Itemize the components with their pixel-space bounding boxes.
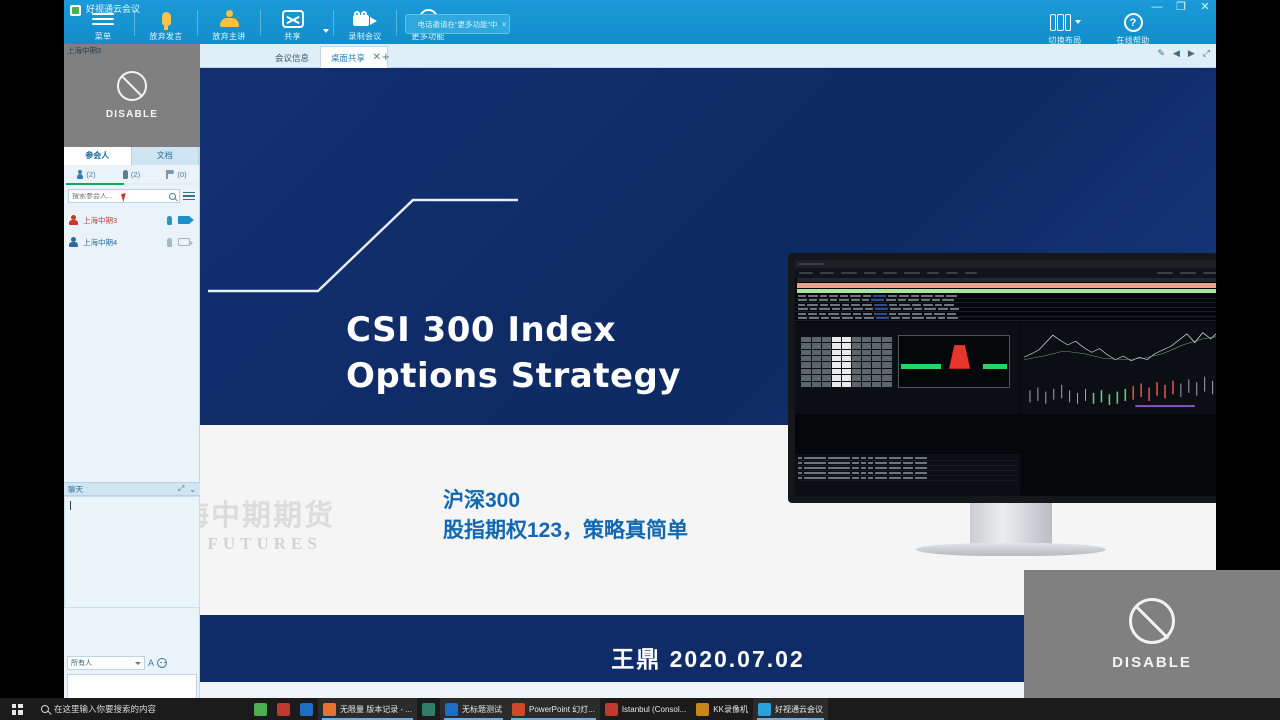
monitor-illustration [788,253,1216,553]
camera-icon [353,11,377,26]
participant-search-row [64,185,199,207]
list-item[interactable]: 上海中期3 [64,209,199,231]
online-help-button[interactable]: ? 在线帮助 [1106,12,1160,46]
search-icon [41,705,49,713]
switch-layout-button[interactable]: 切换布局 [1038,12,1092,46]
wechat-icon [254,703,267,716]
chat-input[interactable] [67,674,197,698]
participant-name: 上海中期3 [83,215,162,226]
content-tabstrip: 会议信息 桌面共享 ✕ + ✎ ◀ ▶ ⤢ [200,44,1216,68]
search-icon[interactable] [169,193,176,200]
terminal-quote-header [797,278,1216,282]
list-item[interactable]: 上海中期4 [64,231,199,253]
no-entry-icon [1129,598,1175,644]
taskbar-search[interactable]: 在这里输入你要搜索的内容 [34,698,249,720]
start-button[interactable] [0,698,34,720]
no-entry-icon [117,71,147,101]
hamburger-icon [92,10,114,28]
tab-close-icon[interactable]: ✕ [373,47,381,69]
font-style-icon[interactable]: A [148,658,154,668]
payoff-profit-zone [943,345,976,369]
invite-notice-banner[interactable]: 电话邀请在“更多功能”中 ✕ [405,14,510,34]
counter-raised-hands[interactable]: (0) [154,170,199,179]
taskbar-item-istanbul[interactable]: Istanbul (Consol... [600,698,691,720]
taskbar-item-label: PowerPoint 幻灯... [529,704,595,715]
terminal-put-band [797,289,1216,293]
taskbar-item-excel[interactable] [417,698,440,720]
terminal-orders-table [795,454,1020,496]
close-button[interactable]: ✕ [1198,1,1212,14]
chevron-down-icon[interactable]: ⌄ [189,485,196,494]
powerpoint-icon [512,703,525,716]
toolbar-divider [396,10,397,36]
monitor-bezel [788,253,1216,503]
taskbar-item-kk-recorder[interactable]: KK录像机 [691,698,753,720]
tab-desktop-share-label: 桌面共享 [331,53,365,63]
emoji-icon[interactable] [157,658,167,668]
fsmeeting-icon [758,703,771,716]
taskbar-item-label: Istanbul (Consol... [622,705,686,714]
chrome-window-icon [323,703,336,716]
counter-participants[interactable]: (2) [64,170,109,179]
tab-desktop-share[interactable]: 桌面共享 ✕ [320,46,388,68]
monitor-stand-base [916,543,1106,556]
price-chart-lower [1024,370,1216,410]
terminal-price-charts-pane [1020,322,1216,414]
share-button[interactable]: 共享 [265,8,329,42]
payoff-right-leg [983,364,1007,369]
main-toolbar: 菜单 放弃发言 放弃主讲 共享 [76,8,455,42]
toolbar-divider [134,10,135,36]
text-caret [70,501,71,510]
sidebar-tabs: 参会人 文档 [64,147,199,165]
camera-off-icon[interactable] [178,238,190,246]
taskbar-app-list: 无限量 版本记录 - ...无标题测试PowerPoint 幻灯...Istan… [249,698,828,720]
layout-icon [1050,14,1072,31]
list-menu-icon[interactable] [183,190,195,203]
watermark-chinese: 海中期期货 [200,492,450,534]
give-up-presenter-label: 放弃主讲 [202,31,256,42]
person-icon [69,237,78,247]
record-meeting-button[interactable]: 录制会议 [338,8,392,42]
overlay-status-text: DISABLE [1112,654,1192,671]
app-red-icon [277,703,290,716]
chat-header-label: 聊天 [68,484,173,495]
self-video-name: 上海中期3 [67,45,101,56]
active-tab-underline [66,183,124,185]
terminal-option-chain [795,294,1216,321]
sidebar-tab-documents[interactable]: 文档 [132,147,200,165]
chat-recipient-value: 所有人 [71,658,92,668]
microphone-on-icon[interactable] [167,216,172,225]
terminal-titlebar [795,260,1216,268]
feishu-blue-icon [300,703,313,716]
microphone-off-icon[interactable] [167,238,172,247]
windows-taskbar: 在这里输入你要搜索的内容 无限量 版本记录 - ...无标题测试PowerPoi… [0,698,1280,720]
toolbar-divider [260,10,261,36]
tab-add-button[interactable]: + [382,47,390,67]
terminal-call-band [797,283,1216,288]
app-titlebar: 好视通云会议 — ❐ ✕ 菜单 放弃发言 [64,0,1216,44]
prev-page-icon[interactable]: ◀ [1173,48,1180,59]
monitor-screen [795,260,1216,496]
right-toolbar: 切换布局 ? 在线帮助 [1038,12,1160,46]
chat-recipient-row: 所有人 A [67,656,197,670]
taskbar-item-label: 无标题测试 [462,704,502,715]
slide-title-line1: CSI 300 Index [346,308,766,354]
terminal-position-grid [799,335,893,388]
microphone-icon [162,12,171,26]
screen-root: 好视通云会议 — ❐ ✕ 菜单 放弃发言 [0,0,1280,720]
presenter-icon [218,10,240,28]
participant-list: 上海中期3 上海中期4 [64,207,199,255]
taskbar-item-feishu-doc[interactable]: 无标题测试 [440,698,507,720]
terminal-menubar [795,268,1216,278]
tab-meeting-info[interactable]: 会议信息 [264,46,320,68]
terminal-payoff-chart [898,335,1010,388]
taskbar-search-placeholder: 在这里输入你要搜索的内容 [54,703,156,715]
taskbar-item-chrome-window[interactable]: 无限量 版本记录 - ... [318,698,417,720]
participant-counters: (2) (2) (0) [64,165,199,185]
chevron-down-icon [135,662,141,665]
left-sidebar: 上海中期3 DISABLE 参会人 文档 (2) (2) [64,44,200,698]
participant-status [167,238,194,247]
participant-status [167,216,194,225]
slide-subtitle-line1: 沪深300 [443,486,688,516]
taskbar-item-wechat[interactable] [249,698,272,720]
help-icon: ? [1124,13,1143,32]
monitor-stand-neck [970,503,1052,547]
sidebar-tab-participants[interactable]: 参会人 [64,147,132,165]
record-meeting-label: 录制会议 [338,31,392,42]
chat-header: 聊天 ⤢ ⌄ [64,482,200,496]
expand-icon[interactable]: ⤢ [178,484,184,494]
maximize-button[interactable]: ❐ [1174,1,1188,14]
invite-notice-text: 电话邀请在“更多功能”中 [418,20,498,29]
taskbar-item-label: KK录像机 [713,704,748,715]
share-button-label: 共享 [265,31,320,42]
give-up-speak-label: 放弃发言 [139,31,193,42]
windows-logo-icon [12,704,23,715]
menu-button[interactable]: 菜单 [76,8,130,42]
price-chart-upper [1024,329,1216,366]
excel-icon [422,703,435,716]
give-up-presenter-button[interactable]: 放弃主讲 [202,8,256,42]
chevron-down-icon[interactable] [1075,20,1081,24]
chat-recipient-select[interactable]: 所有人 [67,656,145,670]
self-video-tile[interactable]: 上海中期3 DISABLE [64,44,200,147]
person-icon [69,215,78,225]
counter-raised-hands-value: (0) [177,170,186,179]
tabstrip-tools: ✎ ◀ ▶ ⤢ [1157,48,1210,59]
trading-terminal-screenshot [795,260,1216,496]
slide-title-line2: Options Strategy [346,354,766,400]
microphone-icon [123,170,128,179]
person-icon [77,170,83,179]
counter-participants-value: (2) [86,170,95,179]
fullscreen-icon[interactable]: ⤢ [1203,48,1210,59]
participant-name: 上海中期4 [83,237,162,248]
share-icon [282,10,304,28]
terminal-lower-panes [795,322,1216,414]
watermark-english: Q FUTURES [200,534,450,554]
toolbar-divider [333,10,334,36]
chevron-down-icon[interactable] [323,29,329,33]
self-video-disabled-state: DISABLE [64,44,200,147]
slide-subtitle-chinese: 沪深300 股指期权123，策略真简单 [443,486,688,547]
counter-microphones[interactable]: (2) [109,170,154,179]
feishu-doc-icon [445,703,458,716]
counter-microphones-value: (2) [131,170,140,179]
chat-messages-area[interactable] [64,496,200,608]
taskbar-item-feishu-blue[interactable] [295,698,318,720]
slide-title: CSI 300 Index Options Strategy [346,308,766,399]
next-page-icon[interactable]: ▶ [1188,48,1195,59]
camera-disabled-overlay[interactable]: DISABLE [1024,570,1280,698]
taskbar-item-app-red[interactable] [272,698,295,720]
annotate-icon[interactable]: ✎ [1157,48,1165,59]
kk-recorder-icon [696,703,709,716]
toolbar-divider [197,10,198,36]
terminal-strategy-pane [795,322,1019,414]
flag-icon [166,170,174,179]
istanbul-icon [605,703,618,716]
menu-button-label: 菜单 [76,31,130,42]
company-watermark: 海中期期货 Q FUTURES [200,492,450,554]
taskbar-item-powerpoint[interactable]: PowerPoint 幻灯... [507,698,600,720]
give-up-speak-button[interactable]: 放弃发言 [139,8,193,42]
taskbar-item-label: 无限量 版本记录 - ... [340,704,412,715]
camera-on-icon[interactable] [178,216,190,224]
self-video-status-text: DISABLE [106,109,158,120]
slide-subtitle-line2: 股指期权123，策略真简单 [443,516,688,546]
taskbar-item-fsmeeting[interactable]: 好视通云会议 [753,698,828,720]
notice-close-icon[interactable]: ✕ [501,16,507,34]
taskbar-item-label: 好视通云会议 [775,704,823,715]
payoff-left-leg [901,364,941,369]
